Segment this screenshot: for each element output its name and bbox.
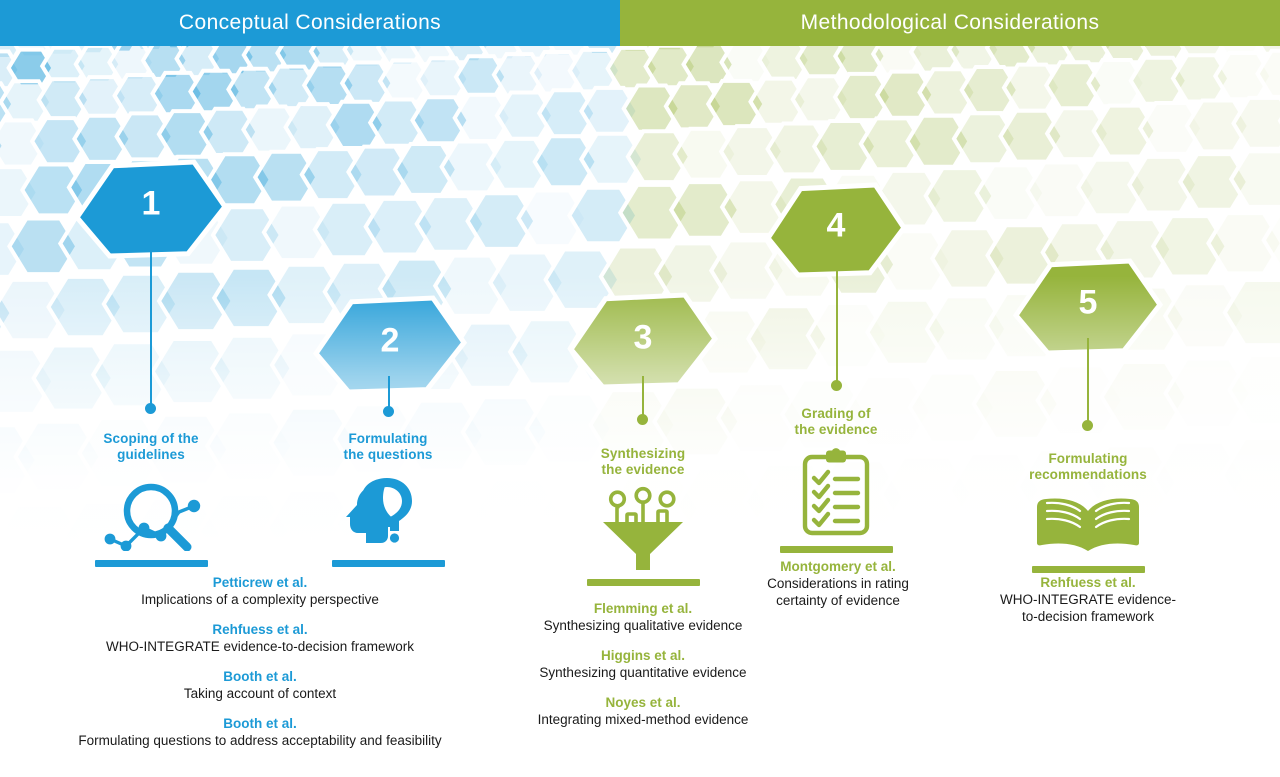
open-book-icon [1034,497,1142,557]
step-4-title-line1: Grading of [750,406,922,422]
step-1-rule [95,560,208,567]
connector-dot-5 [1082,420,1093,431]
reference-author: Noyes et al. [513,694,773,711]
connector-line-5 [1087,338,1089,428]
references-synthesis: Flemming et al. Synthesizing qualitative… [513,600,773,741]
infographic-stage: 1 2 3 4 5 Scoping of the guidelines [0,46,1280,777]
reference-item: Rehfuess et al. WHO-INTEGRATE evidence- … [985,574,1191,625]
step-4-rule [780,546,893,553]
reference-author: Booth et al. [40,668,480,685]
reference-author: Rehfuess et al. [40,621,480,638]
connector-line-1 [150,238,152,408]
step-column-1[interactable]: Scoping of the guidelines [56,431,246,567]
reference-title: WHO-INTEGRATE evidence-to-decision frame… [40,638,480,655]
step-3-rule [587,579,700,586]
reference-author: Rehfuess et al. [985,574,1191,591]
header-methodological-title: Methodological Considerations [801,11,1100,35]
connector-dot-4 [831,380,842,391]
funnel-icon [597,486,689,572]
step-3-title: Synthesizing the evidence [553,446,733,478]
step-1-title: Scoping of the guidelines [56,431,246,463]
reference-item: Booth et al. Formulating questions to ad… [40,715,480,749]
step-4-icon-wrap [750,448,922,538]
connector-dot-3 [637,414,648,425]
reference-author: Booth et al. [40,715,480,732]
connector-dot-1 [145,403,156,414]
step-column-4[interactable]: Grading of the evidence [750,406,922,553]
step-2-title: Formulating the questions [293,431,483,463]
reference-title: Formulating questions to address accepta… [40,732,480,749]
references-recommendations: Rehfuess et al. WHO-INTEGRATE evidence- … [985,574,1191,638]
reference-title: Integrating mixed-method evidence [513,711,773,728]
step-5-title: Formulating recommendations [998,451,1178,483]
reference-item: Montgomery et al. Considerations in rati… [735,558,941,609]
header-conceptual: Conceptual Considerations [0,0,620,46]
step-3-title-line2: the evidence [553,462,733,478]
header-methodological: Methodological Considerations [620,0,1280,46]
reference-title: WHO-INTEGRATE evidence- [985,591,1191,608]
reference-title: Synthesizing qualitative evidence [513,617,773,634]
step-4-title-line2: the evidence [750,422,922,438]
reference-title: Considerations in rating [735,575,941,592]
references-conceptual: Petticrew et al. Implications of a compl… [40,574,480,762]
step-5-title-line1: Formulating [998,451,1178,467]
reference-item: Petticrew et al. Implications of a compl… [40,574,480,608]
step-1-title-line1: Scoping of the [56,431,246,447]
step-column-5[interactable]: Formulating recommendations [998,451,1178,573]
reference-author: Petticrew et al. [40,574,480,591]
reference-title: certainty of evidence [735,592,941,609]
step-2-title-line2: the questions [293,447,483,463]
step-5-icon-wrap [998,493,1178,557]
reference-author: Montgomery et al. [735,558,941,575]
reference-title: Synthesizing quantitative evidence [513,664,773,681]
header-bar: Conceptual Considerations Methodological… [0,0,1280,46]
reference-item: Rehfuess et al. WHO-INTEGRATE evidence-t… [40,621,480,655]
step-3-icon-wrap [553,486,733,572]
step-4-title: Grading of the evidence [750,406,922,438]
step-1-title-line2: guidelines [56,447,246,463]
step-3-title-line1: Synthesizing [553,446,733,462]
clipboard-checklist-icon [796,448,876,538]
connector-dot-2 [383,406,394,417]
step-2-icon-wrap [293,473,483,551]
connector-line-4 [836,259,838,385]
step-column-2[interactable]: Formulating the questions [293,431,483,567]
step-2-title-line1: Formulating [293,431,483,447]
reference-item: Noyes et al. Integrating mixed-method ev… [513,694,773,728]
header-conceptual-title: Conceptual Considerations [179,11,441,35]
reference-author: Higgins et al. [513,647,773,664]
step-5-title-line2: recommendations [998,467,1178,483]
step-2-rule [332,560,445,567]
reference-title: to-decision framework [985,608,1191,625]
reference-item: Higgins et al. Synthesizing quantitative… [513,647,773,681]
reference-title: Taking account of context [40,685,480,702]
reference-item: Flemming et al. Synthesizing qualitative… [513,600,773,634]
references-grading: Montgomery et al. Considerations in rati… [735,558,941,622]
reference-item: Booth et al. Taking account of context [40,668,480,702]
reference-author: Flemming et al. [513,600,773,617]
reference-title: Implications of a complexity perspective [40,591,480,608]
step-5-rule [1032,566,1145,573]
step-column-3[interactable]: Synthesizing the evidence [553,446,733,586]
magnifier-chart-icon [99,479,203,551]
head-question-icon [344,475,432,551]
step-1-icon-wrap [56,473,246,551]
